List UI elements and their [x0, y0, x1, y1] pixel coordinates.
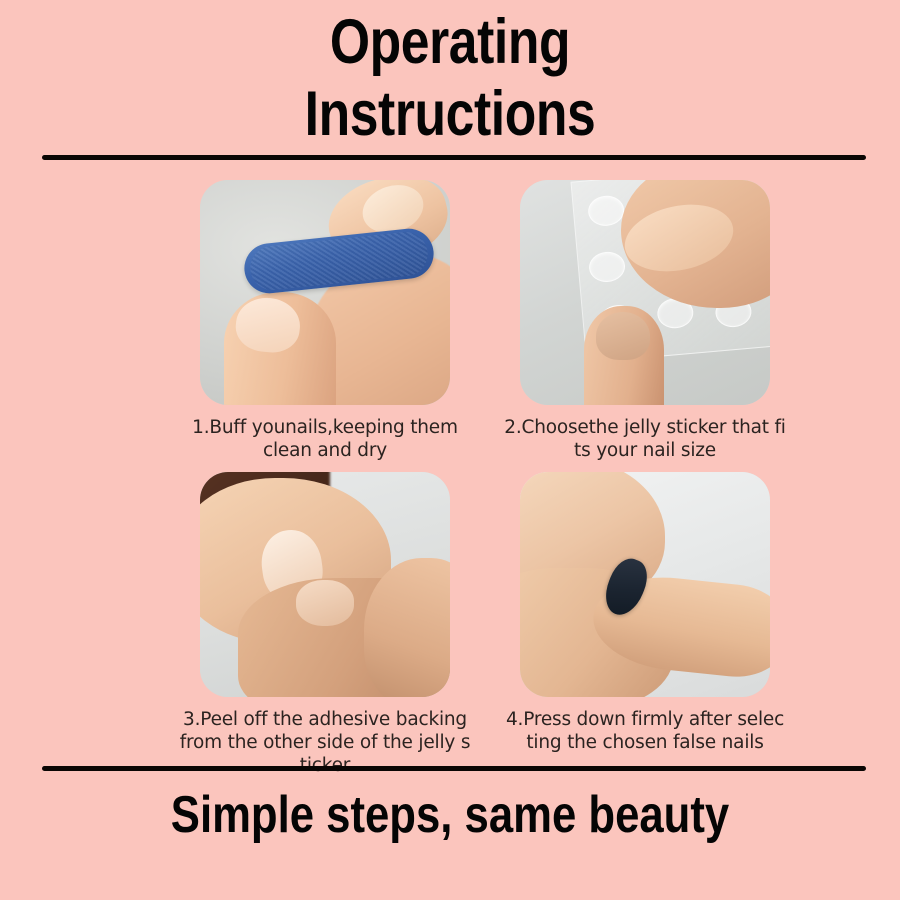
page-title: Operating Instructions	[0, 6, 900, 150]
page-title-line-2: Instructions	[81, 78, 819, 150]
steps-row-1: 1.Buff younails,keeping them clean and d…	[0, 180, 900, 472]
steps-grid: 1.Buff younails,keeping them clean and d…	[0, 180, 900, 764]
lower-fingernail-shape	[296, 580, 354, 626]
page-title-line-1: Operating	[81, 6, 819, 78]
index-fingernail-shape	[596, 312, 650, 360]
instructions-poster: Operating Instructions 1.Buff younails,k…	[0, 0, 900, 900]
step-card-2: 2.Choosethe jelly sticker that fi ts you…	[460, 180, 830, 462]
step-2-caption: 2.Choosethe jelly sticker that fi ts you…	[460, 416, 830, 462]
step-1-caption: 1.Buff younails,keeping them clean and d…	[140, 416, 510, 462]
step-4-caption: 4.Press down firmly after selec ting the…	[460, 708, 830, 754]
step-2-photo	[520, 180, 770, 405]
step-card-3: 3.Peel off the adhesive backing from the…	[140, 472, 510, 777]
divider-bottom	[42, 766, 866, 771]
steps-row-2: 3.Peel off the adhesive backing from the…	[0, 472, 900, 764]
jelly-tab-shape	[588, 250, 626, 283]
footer-tagline: Simple steps, same beauty	[72, 784, 828, 846]
jelly-tab-shape	[587, 194, 625, 227]
step-3-photo	[200, 472, 450, 697]
step-4-photo	[520, 472, 770, 697]
step-card-1: 1.Buff younails,keeping them clean and d…	[140, 180, 510, 462]
step-card-4: 4.Press down firmly after selec ting the…	[460, 472, 830, 754]
step-1-photo	[200, 180, 450, 405]
divider-top	[42, 155, 866, 160]
